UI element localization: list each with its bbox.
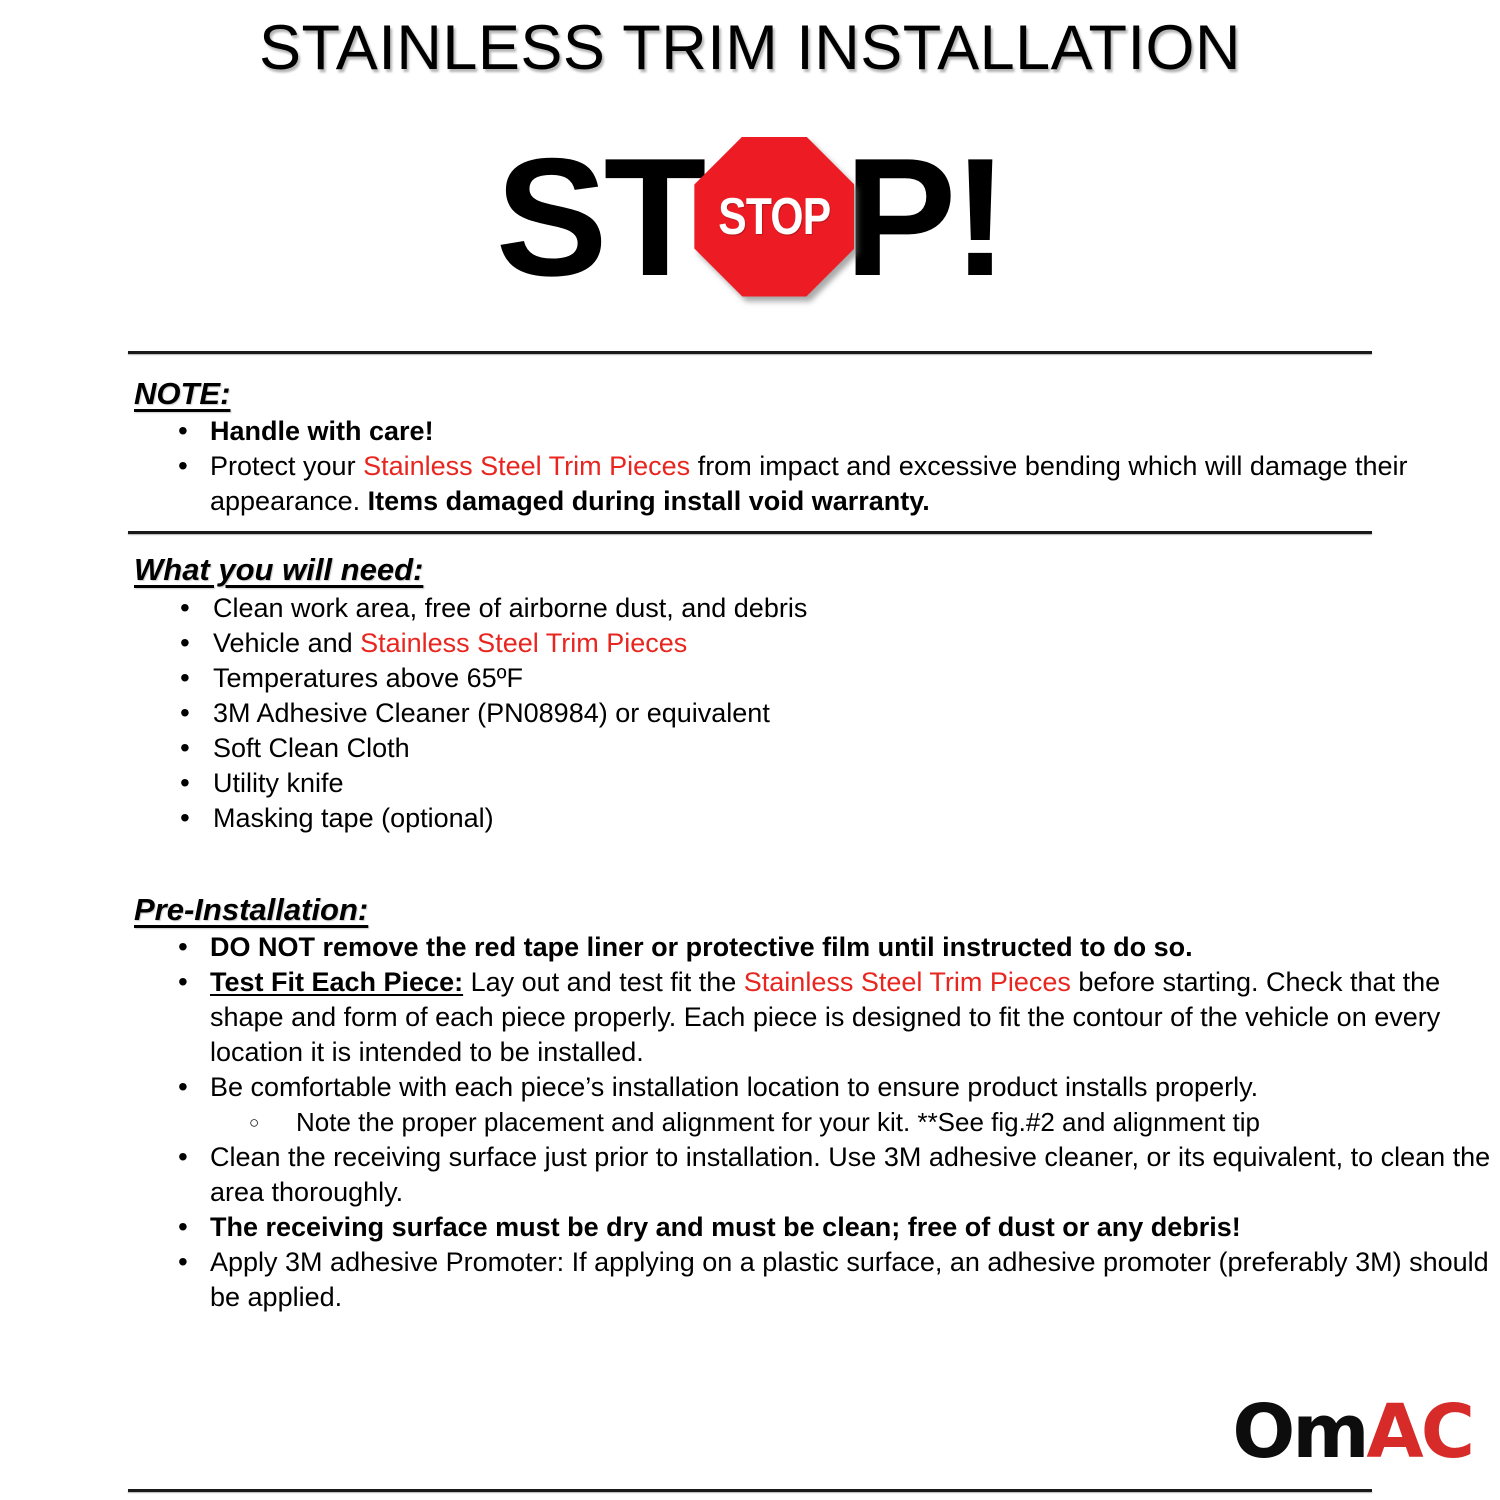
section-heading-pre-installation: Pre-Installation: — [0, 836, 1500, 930]
list-item: Vehicle and Stainless Steel Trim Pieces — [0, 626, 1500, 661]
section-heading-note: NOTE: — [0, 354, 1500, 414]
text-run: Test Fit Each Piece: — [210, 967, 463, 997]
pre-installation-bullet-list: DO NOT remove the red tape liner or prot… — [0, 930, 1500, 1315]
omac-logo-red: AC — [1366, 1389, 1472, 1475]
list-item: 3M Adhesive Cleaner (PN08984) or equival… — [0, 696, 1500, 731]
stop-warning-graphic: ST STOP P! — [0, 124, 1500, 309]
text-run: DO NOT remove the red tape liner or prot… — [210, 932, 1193, 962]
text-run: Vehicle and — [213, 628, 360, 658]
list-item: Soft Clean Cloth — [0, 731, 1500, 766]
list-item: Clean the receiving surface just prior t… — [0, 1140, 1500, 1210]
installation-instruction-page: STAINLESS TRIM INSTALLATION ST STOP P! N… — [0, 0, 1500, 1500]
text-run: Stainless Steel Trim Pieces — [363, 451, 690, 481]
stop-left-letters: ST — [496, 133, 703, 301]
text-run: 3M Adhesive Cleaner (PN08984) or equival… — [213, 698, 770, 728]
text-run: Clean work area, free of airborne dust, … — [213, 593, 807, 623]
list-item: The receiving surface must be dry and mu… — [0, 1210, 1500, 1245]
omac-logo: OmAC — [1232, 1395, 1472, 1469]
text-run: Items damaged during install void warran… — [368, 486, 930, 516]
text-run: Soft Clean Cloth — [213, 733, 410, 763]
divider-bottom — [128, 1489, 1372, 1492]
text-run: The receiving surface must be dry and mu… — [210, 1212, 1241, 1242]
section-heading-what-you-need: What you will need: — [0, 534, 1500, 590]
stop-wordmark: ST STOP P! — [496, 133, 1005, 301]
text-run: Stainless Steel Trim Pieces — [744, 967, 1071, 997]
text-run: Utility knife — [213, 768, 344, 798]
text-run: Note the proper placement and alignment … — [296, 1107, 1260, 1137]
text-run: Masking tape (optional) — [213, 803, 494, 833]
text-run: Protect your — [210, 451, 363, 481]
list-item: Be comfortable with each piece’s install… — [0, 1070, 1500, 1105]
list-item: Handle with care! — [0, 414, 1500, 449]
text-run: Lay out and test fit the — [463, 967, 744, 997]
list-item: Test Fit Each Piece: Lay out and test fi… — [0, 965, 1500, 1070]
list-item: Masking tape (optional) — [0, 801, 1500, 836]
list-item: Utility knife — [0, 766, 1500, 801]
stop-sign-icon: STOP — [694, 137, 854, 297]
omac-logo-black: Om — [1232, 1389, 1366, 1475]
text-run: Apply 3M adhesive Promoter: If applying … — [210, 1247, 1489, 1312]
text-run: Be comfortable with each piece’s install… — [210, 1072, 1258, 1102]
stop-sign-label: STOP — [718, 191, 830, 243]
list-item: Apply 3M adhesive Promoter: If applying … — [0, 1245, 1500, 1315]
note-bullet-list: Handle with care!Protect your Stainless … — [0, 414, 1500, 519]
list-item: DO NOT remove the red tape liner or prot… — [0, 930, 1500, 965]
text-run: Handle with care! — [210, 416, 434, 446]
sub-list-item: Note the proper placement and alignment … — [0, 1105, 1500, 1140]
list-item: Clean work area, free of airborne dust, … — [0, 591, 1500, 626]
text-run: Temperatures above 65ºF — [213, 663, 523, 693]
stop-right-letters: P! — [844, 133, 1004, 301]
sub-bullet-list: Note the proper placement and alignment … — [0, 1105, 1500, 1140]
what-you-need-bullet-list: Clean work area, free of airborne dust, … — [0, 591, 1500, 836]
list-item: Temperatures above 65ºF — [0, 661, 1500, 696]
text-run: Stainless Steel Trim Pieces — [360, 628, 687, 658]
page-title: STAINLESS TRIM INSTALLATION — [0, 0, 1500, 82]
list-item: Protect your Stainless Steel Trim Pieces… — [0, 449, 1500, 519]
text-run: Clean the receiving surface just prior t… — [210, 1142, 1490, 1207]
